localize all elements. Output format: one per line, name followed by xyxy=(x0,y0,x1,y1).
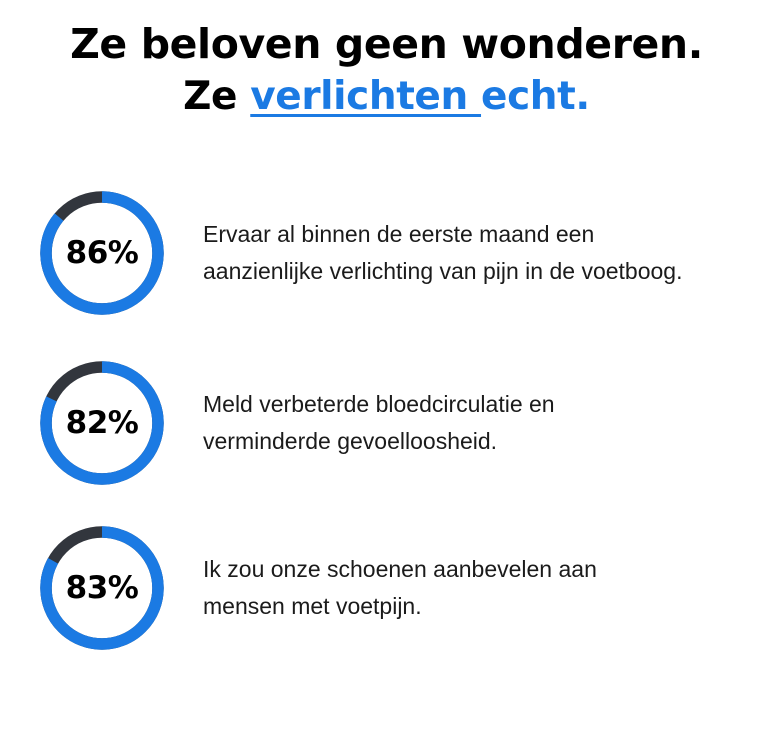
stat-row: 83% Ik zou onze schoenen aanbevelen aan … xyxy=(0,508,773,668)
headline-line-2-emphasis: verlichten xyxy=(250,74,481,119)
stat-description: Ervaar al binnen de eerste maand een aan… xyxy=(203,216,683,291)
donut-percent-label: 86% xyxy=(38,189,166,317)
donut-chart-83: 83% xyxy=(38,524,166,652)
donut-chart-86: 86% xyxy=(38,189,166,317)
stats-list: 86% Ervaar al binnen de eerste maand een… xyxy=(0,168,773,668)
headline-line-1: Ze beloven geen wonderen. xyxy=(0,22,773,68)
page-title: Ze beloven geen wonderen. Ze verlichten … xyxy=(0,22,773,119)
stat-description: Ik zou onze schoenen aanbevelen aan mens… xyxy=(203,551,683,626)
donut-percent-label: 83% xyxy=(38,524,166,652)
donut-percent-label: 82% xyxy=(38,359,166,487)
stat-row: 86% Ervaar al binnen de eerste maand een… xyxy=(0,168,773,338)
donut-chart-82: 82% xyxy=(38,359,166,487)
headline-line-2-suffix: echt. xyxy=(481,74,590,119)
stat-row: 82% Meld verbeterde bloedcirculatie en v… xyxy=(0,338,773,508)
infographic-page: Ze beloven geen wonderen. Ze verlichten … xyxy=(0,0,773,754)
headline-line-2-prefix: Ze xyxy=(183,74,250,119)
headline-line-2: Ze verlichten echt. xyxy=(0,75,773,119)
stat-description: Meld verbeterde bloedcirculatie en vermi… xyxy=(203,386,683,461)
